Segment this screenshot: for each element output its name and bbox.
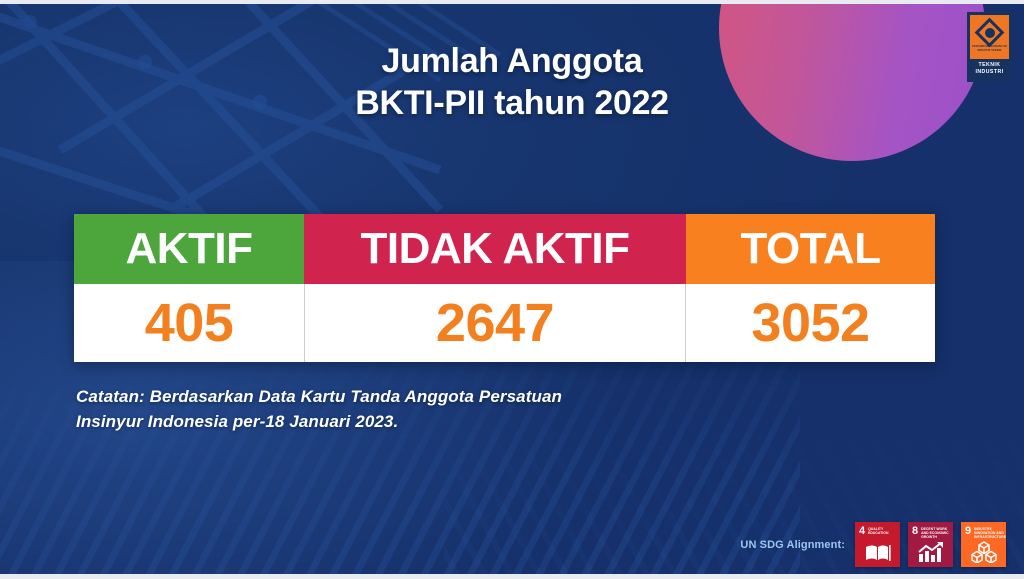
un-sdg-label: UN SDG Alignment:: [740, 539, 845, 551]
cubes-icon: [961, 541, 1006, 563]
book-icon: [855, 543, 900, 563]
sdg-goal-4-title: QUALITY EDUCATION: [868, 526, 896, 535]
page-title: Jumlah Anggota BKTI-PII tahun 2022: [0, 40, 1024, 124]
sdg-goal-9-number: 9: [965, 526, 971, 537]
sdg-goal-4-head: 4 QUALITY EDUCATION: [859, 526, 896, 539]
footnote-line-1: Catatan: Berdasarkan Data Kartu Tanda An…: [76, 387, 562, 406]
table-value-total: 3052: [686, 284, 935, 362]
table-header-aktif: AKTIF: [74, 214, 304, 284]
sdg-goal-4[interactable]: 4 QUALITY EDUCATION: [855, 522, 900, 567]
sdg-goal-8[interactable]: 8 DECENT WORK AND ECONOMIC GROWTH: [908, 522, 953, 567]
sdg-goal-8-head: 8 DECENT WORK AND ECONOMIC GROWTH: [912, 526, 949, 539]
table-header-row: AKTIF TIDAK AKTIF TOTAL: [74, 214, 935, 284]
bottom-edge-strip: [0, 574, 1024, 579]
sdg-goal-8-number: 8: [912, 526, 918, 537]
footnote: Catatan: Berdasarkan Data Kartu Tanda An…: [76, 384, 796, 434]
table-value-row: 405 2647 3052: [74, 284, 935, 362]
sdg-goal-9-title: INDUSTRY, INNOVATION AND INFRASTRUCTURE: [974, 526, 1006, 539]
table-header-total: TOTAL: [686, 214, 935, 284]
title-line-1: Jumlah Anggota: [382, 42, 643, 80]
membership-table: AKTIF TIDAK AKTIF TOTAL 405 2647 3052: [74, 214, 935, 362]
growth-chart-icon: [908, 542, 953, 563]
footnote-line-2: Insinyur Indonesia per-18 Januari 2023.: [76, 412, 398, 431]
sdg-goal-9[interactable]: 9 INDUSTRY, INNOVATION AND INFRASTRUCTUR…: [961, 522, 1006, 567]
table-value-tidak-aktif: 2647: [304, 284, 686, 362]
sdg-goal-4-number: 4: [859, 526, 865, 537]
sdg-goal-9-head: 9 INDUSTRY, INNOVATION AND INFRASTRUCTUR…: [965, 526, 1002, 539]
sdg-goal-8-title: DECENT WORK AND ECONOMIC GROWTH: [921, 526, 949, 539]
slide-root: PERHIMPUNAN INSINYUR INDUSTRI TEKNIK TEK…: [0, 0, 1024, 579]
table-header-tidak-aktif: TIDAK AKTIF: [304, 214, 686, 284]
un-sdg-alignment: UN SDG Alignment: 4 QUALITY EDUCATION 8 …: [740, 522, 1006, 567]
title-line-2: BKTI-PII tahun 2022: [0, 82, 1024, 124]
top-edge-strip: [0, 0, 1024, 4]
table-value-aktif: 405: [74, 284, 304, 362]
